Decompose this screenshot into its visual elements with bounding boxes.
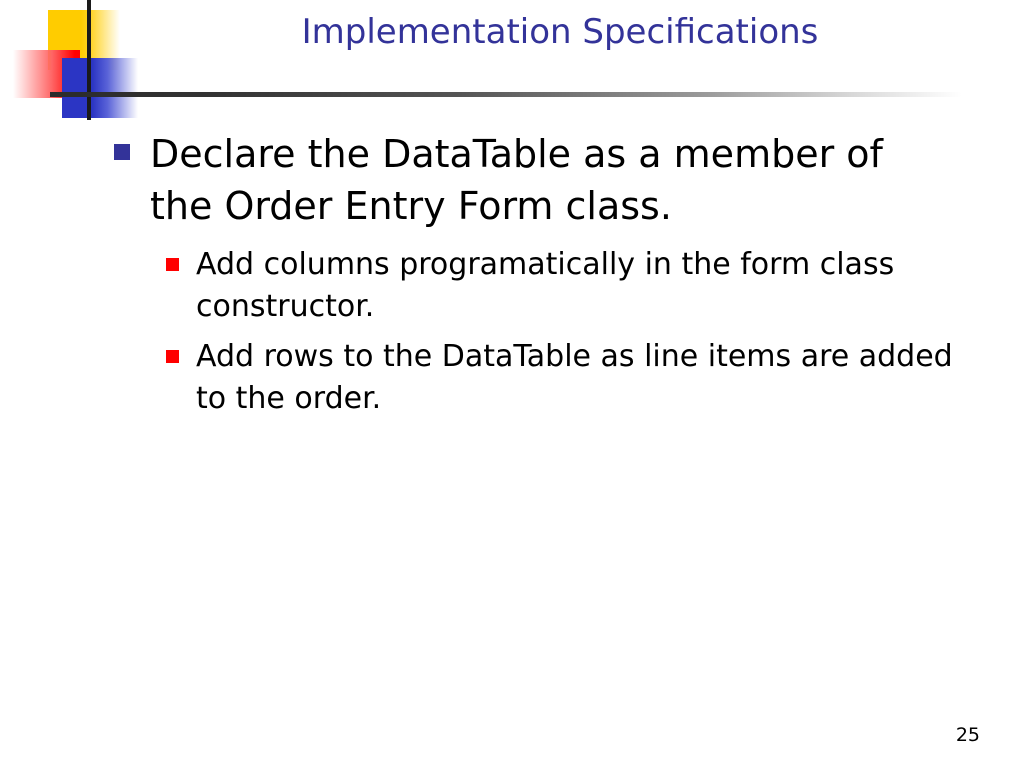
blue-block-shape <box>62 58 138 118</box>
slide-body: Declare the DataTable as a member of the… <box>0 128 1024 428</box>
bullet-text: Declare the DataTable as a member of the… <box>150 128 950 232</box>
bullet-item-level1: Declare the DataTable as a member of the… <box>0 128 1024 232</box>
square-bullet-icon <box>166 258 179 271</box>
square-bullet-icon <box>166 350 179 363</box>
horizontal-rule-shape <box>50 92 962 97</box>
bullet-item-level2: Add columns programatically in the form … <box>0 244 1024 328</box>
yellow-block-shape <box>48 10 120 70</box>
bullet-item-level2: Add rows to the DataTable as line items … <box>0 336 1024 420</box>
page-number: 25 <box>956 724 980 746</box>
red-block-shape <box>13 50 80 98</box>
slide-canvas: Implementation Specifications Declare th… <box>0 0 1024 768</box>
square-bullet-icon <box>114 144 130 160</box>
vertical-rule-shape <box>87 0 91 120</box>
bullet-text: Add rows to the DataTable as line items … <box>196 336 986 420</box>
page-title: Implementation Specifications <box>160 12 960 52</box>
bullet-text: Add columns programatically in the form … <box>196 244 986 328</box>
